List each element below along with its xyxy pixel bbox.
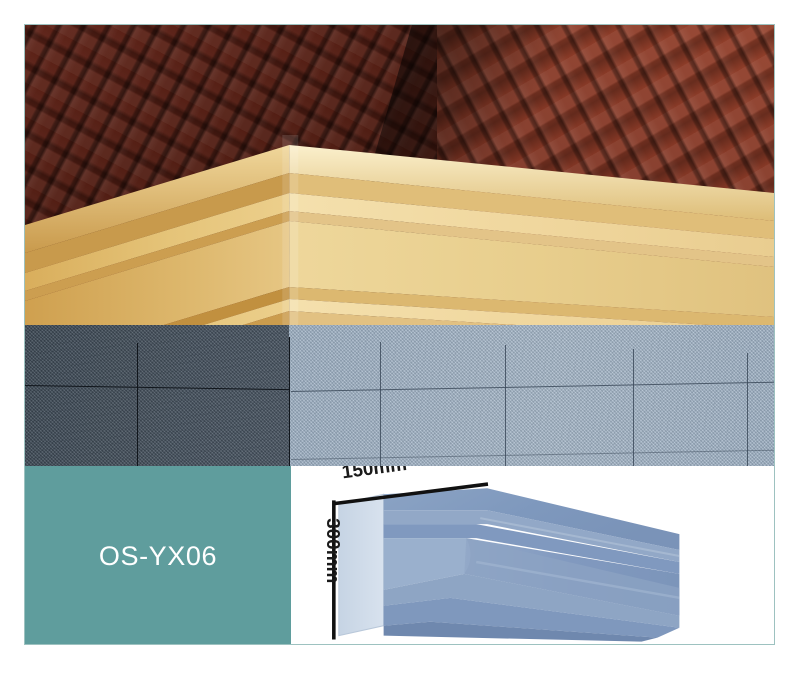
wall-right-face [289, 325, 774, 466]
wall-tiles [25, 325, 774, 466]
grout-line [747, 353, 748, 466]
bottom-row: OS-YX06 [25, 466, 774, 645]
grout-line [633, 349, 634, 466]
profile-back-face [339, 494, 384, 635]
wall-left-face [25, 325, 289, 466]
product-photo [25, 25, 774, 466]
grout-line [505, 345, 506, 466]
cornice-profile-drawing: 150mm 300mm [291, 466, 774, 645]
profile-diagram-panel: 150mm 300mm [291, 466, 774, 645]
building-corner-edge [289, 337, 290, 466]
grout-line [380, 342, 381, 466]
grout-line [137, 343, 138, 466]
product-code-block: OS-YX06 [25, 466, 291, 645]
dimension-label-height: 300mm [322, 518, 343, 583]
dimension-label-width: 150mm [341, 466, 408, 483]
product-card: OS-YX06 [24, 24, 775, 645]
product-code-label: OS-YX06 [99, 541, 217, 572]
